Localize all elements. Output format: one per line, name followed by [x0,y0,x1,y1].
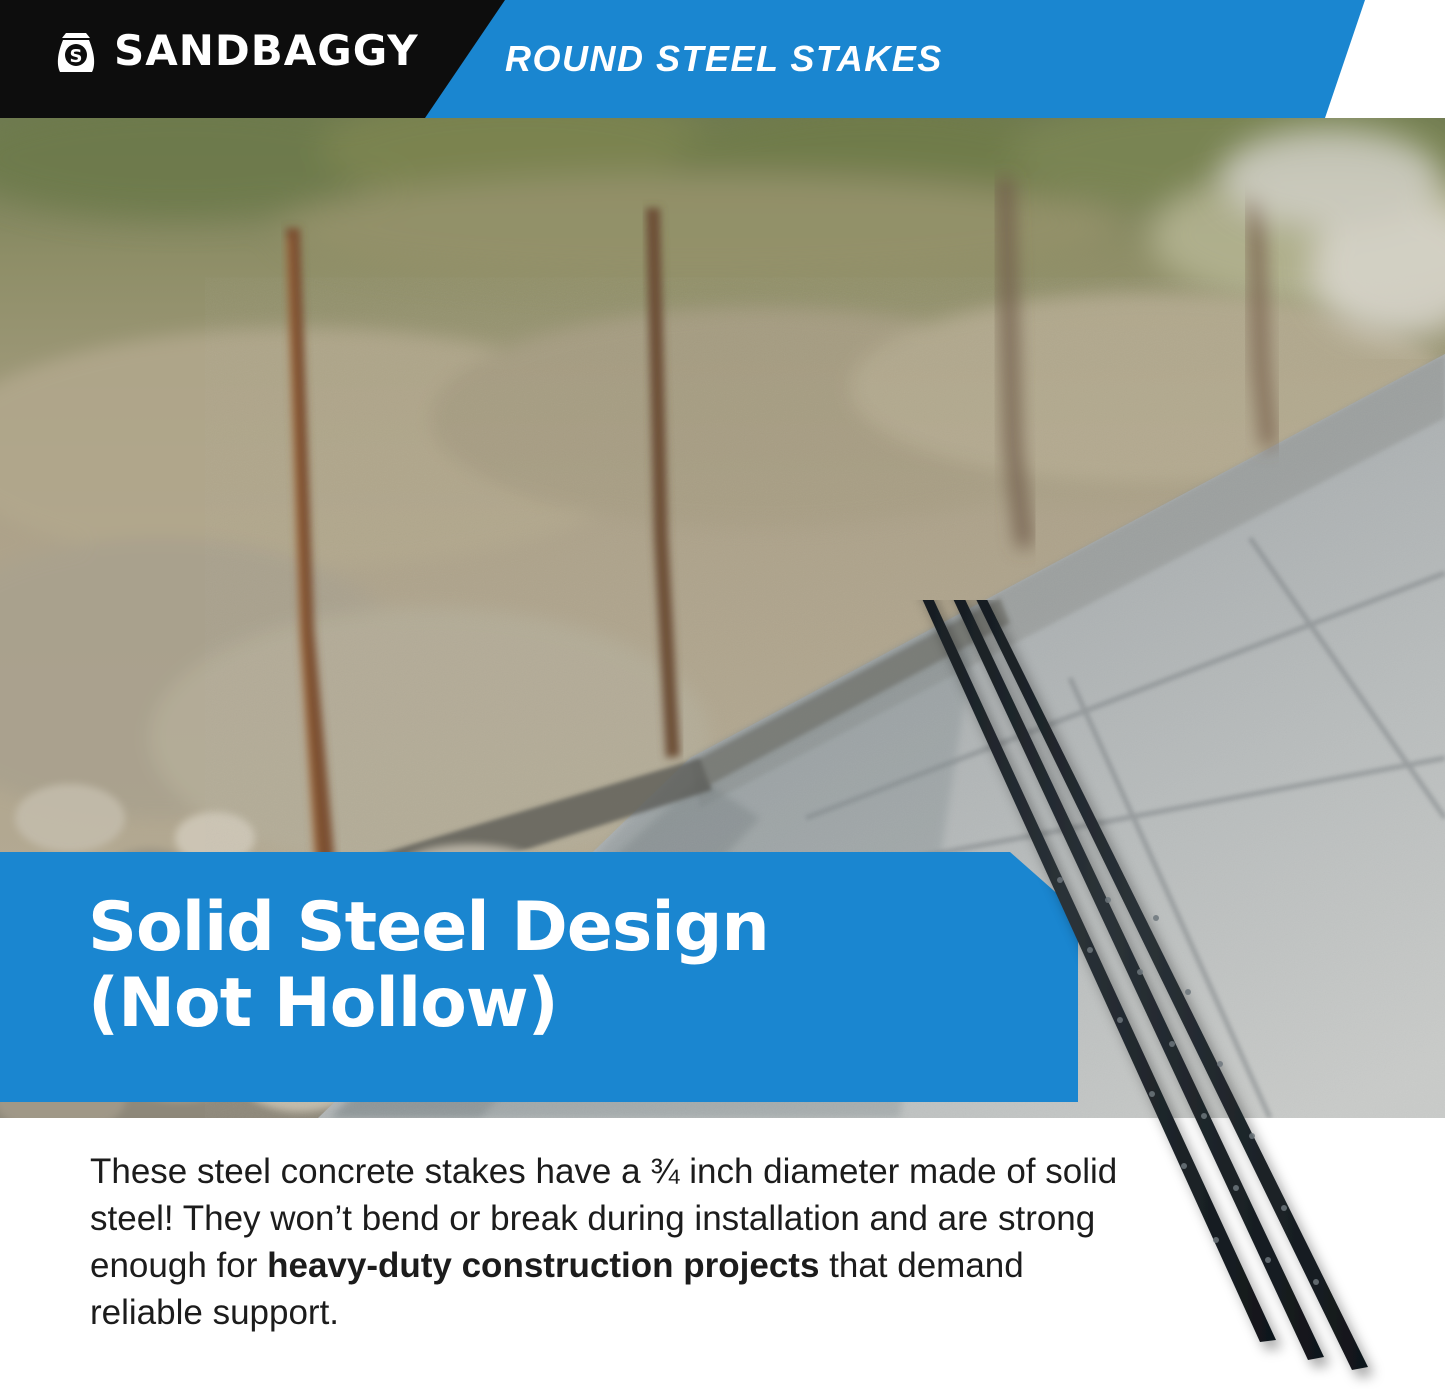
header-corner-notch [1325,0,1445,118]
brand-name: SANDBAGGY [114,26,419,75]
description-part-2: heavy-duty construction projects [267,1246,819,1285]
header-bar: S SANDBAGGY ROUND STEEL STAKES [0,0,1445,118]
headline-text: Solid Steel Design (Not Hollow) [88,890,769,1042]
description-paragraph: These steel concrete stakes have a ¾ inc… [90,1148,1130,1336]
headline-banner: Solid Steel Design (Not Hollow) [0,852,1078,1102]
header-title: ROUND STEEL STAKES [505,38,943,80]
sandbag-icon: S [48,22,104,78]
svg-text:S: S [70,46,83,67]
brand-logo: S SANDBAGGY [48,22,419,78]
product-infographic: S SANDBAGGY ROUND STEEL STAKES [0,0,1445,1389]
